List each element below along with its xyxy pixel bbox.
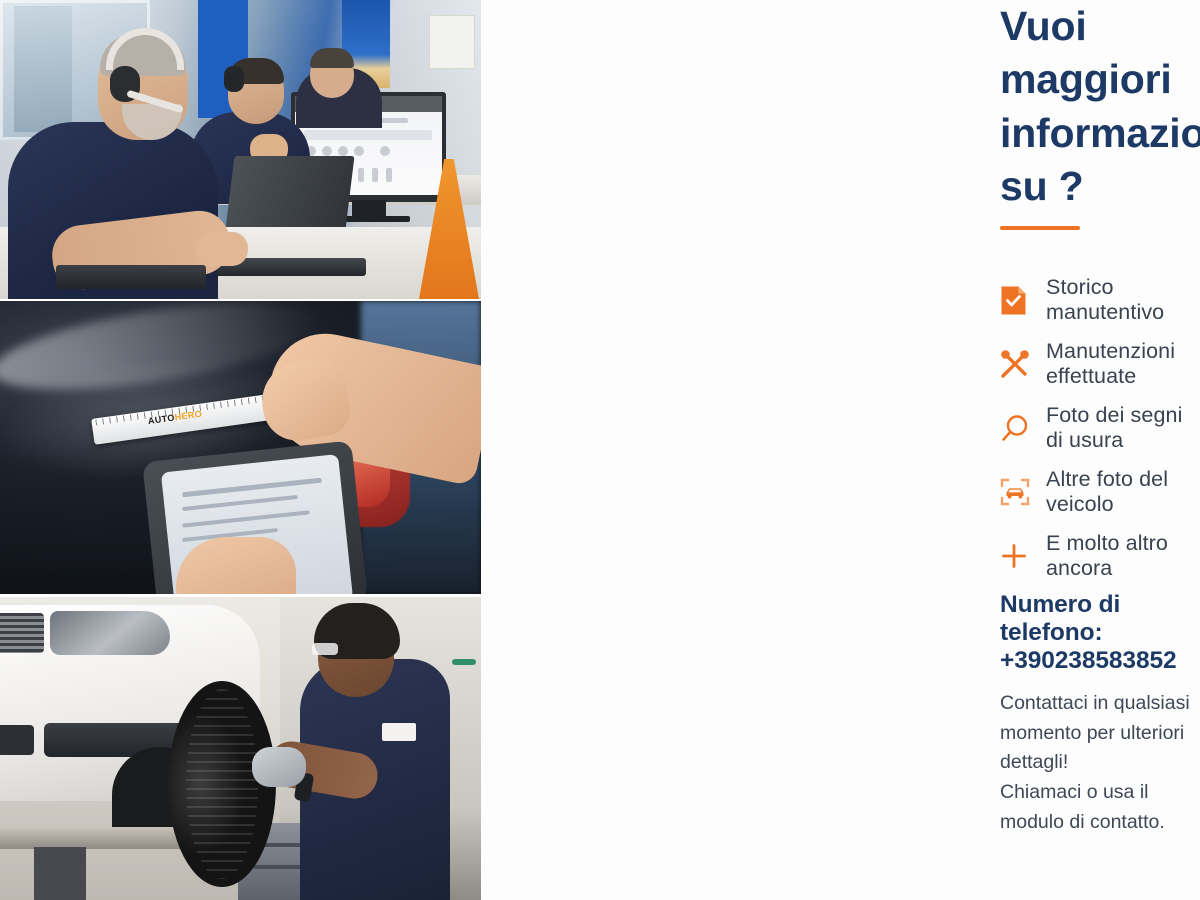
contact-block: Numero di telefono: +390238583852 Contat… [1000,591,1200,837]
mechanic-tire-lift-photo [0,597,481,900]
plus-icon [1000,542,1046,570]
photo-column: AUTOHERO [0,0,481,900]
magnifying-glass-icon [1000,414,1046,443]
screen-dot [338,146,348,156]
feature-label: Manutenzioni effettuate [1046,339,1200,389]
content-column: Vuoi maggiori informazioni su ? Saremo f… [481,0,1200,900]
feature-list: Storico manutentivo Manutenzioni effettu… [1000,268,1200,588]
screen-bar [372,168,378,182]
accent-underline [1000,226,1080,230]
keyboard [56,265,206,289]
feature-item-manutenzioni-effettuate: Manutenzioni effettuate [1000,332,1200,396]
screen-bar [358,168,364,182]
car-grille [0,613,44,653]
feature-label: Storico manutentivo [1046,275,1200,325]
front-agent-hand [196,232,248,266]
second-agent-headset-icon [224,66,244,92]
brand-prefix: AUTO [147,412,175,426]
safety-glasses-icon [312,643,338,655]
feature-item-storico-manutentivo: Storico manutentivo [1000,268,1200,332]
background-person-hair [310,48,354,68]
tire-tread [186,689,258,879]
call-center-agents-photo [0,0,481,299]
document-check-icon [1000,285,1046,316]
feature-item-molto-altro: E molto altro ancora [1000,524,1200,588]
promo-banner: AUTOHERO [0,0,1200,900]
screen-dot [354,146,364,156]
phone-line[interactable]: Numero di telefono: +390238583852 [1000,591,1200,675]
feature-label: Foto dei segni di usura [1046,403,1200,453]
tools-wrench-screwdriver-icon [1000,349,1046,379]
vehicle-inspection-ruler-photo: AUTOHERO [0,301,481,594]
window-pane [14,6,72,132]
contact-note: Contattaci in qualsiasi momento per ulte… [1000,689,1200,837]
car-headlight [50,611,170,655]
car-side-vent [0,725,34,755]
wall-paper-sheet [430,16,474,68]
feature-item-altre-foto-veicolo: Altre foto del veicolo [1000,460,1200,524]
screen-bar [386,168,392,182]
page-title: Vuoi maggiori informazioni su ? [1000,0,1200,213]
feature-label: E molto altro ancora [1046,531,1200,581]
feature-label: Altre foto del veicolo [1046,467,1200,517]
car-scan-frame-icon [1000,478,1046,506]
screen-dot [380,146,390,156]
headline-block: Vuoi maggiori informazioni su ? [1000,0,1200,213]
work-glove [252,747,306,787]
green-hose [452,659,476,665]
screen-dot [322,146,332,156]
uniform-logo-patch [382,723,416,741]
lift-column [34,847,86,900]
feature-item-foto-segni-usura: Foto dei segni di usura [1000,396,1200,460]
screen-row [304,130,432,140]
